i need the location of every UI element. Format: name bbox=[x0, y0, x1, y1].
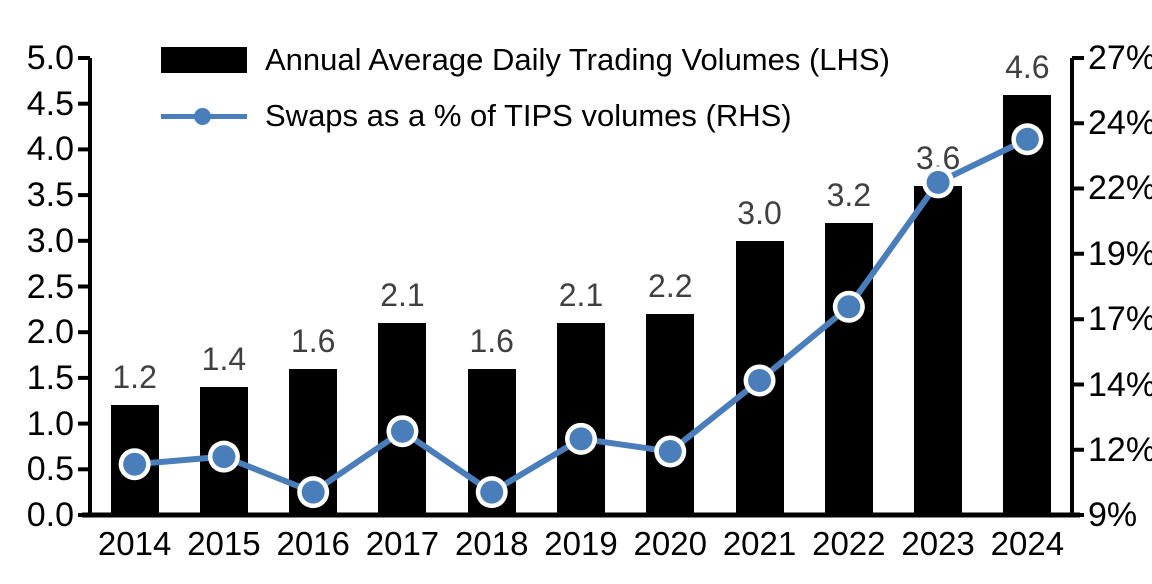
right-axis-tick-label: 19% bbox=[1088, 237, 1152, 271]
left-axis-tick-label: 1.0 bbox=[0, 407, 74, 441]
bar bbox=[646, 314, 694, 515]
left-axis-tick-label: 3.0 bbox=[0, 224, 74, 258]
left-axis-tick-label: 0.0 bbox=[0, 498, 74, 532]
legend-label-bars: Annual Average Daily Trading Volumes (LH… bbox=[265, 44, 890, 75]
right-axis-tick-label: 24% bbox=[1088, 106, 1152, 140]
legend-marker-dot-icon bbox=[194, 108, 211, 125]
bar bbox=[736, 241, 784, 515]
bar-data-label: 1.6 bbox=[469, 325, 513, 357]
left-axis-tick-label: 2.5 bbox=[0, 270, 74, 304]
bar bbox=[200, 387, 248, 515]
right-axis-tick-label: 14% bbox=[1088, 368, 1152, 402]
bar-data-label: 1.6 bbox=[291, 325, 335, 357]
right-axis-tick-label: 9% bbox=[1088, 498, 1152, 532]
bar-data-label: 4.6 bbox=[1005, 51, 1049, 83]
bar-data-label: 1.4 bbox=[202, 343, 246, 375]
right-axis-tick-label: 22% bbox=[1088, 171, 1152, 205]
left-axis-tick-label: 2.0 bbox=[0, 315, 74, 349]
legend-item-line: Swaps as a % of TIPS volumes (RHS) bbox=[161, 100, 792, 131]
legend-label-line: Swaps as a % of TIPS volumes (RHS) bbox=[265, 100, 792, 131]
legend-line-marker-swatch-icon bbox=[161, 103, 247, 129]
x-axis-tick-label: 2024 bbox=[991, 527, 1064, 560]
x-axis-tick-label: 2020 bbox=[634, 527, 707, 560]
bar-data-label: 2.1 bbox=[380, 279, 424, 311]
right-axis-tick-label: 27% bbox=[1088, 41, 1152, 75]
left-axis-tick-label: 4.0 bbox=[0, 132, 74, 166]
x-axis-tick-label: 2022 bbox=[812, 527, 885, 560]
right-axis-tick-label: 12% bbox=[1088, 433, 1152, 467]
bar-data-label: 3.0 bbox=[737, 197, 781, 229]
bar bbox=[825, 223, 873, 515]
x-axis-tick-label: 2019 bbox=[544, 527, 617, 560]
left-axis-tick-label: 5.0 bbox=[0, 41, 74, 75]
bar bbox=[1003, 95, 1051, 515]
bar bbox=[111, 405, 159, 515]
x-axis-tick-label: 2015 bbox=[187, 527, 260, 560]
legend-bar-swatch-icon bbox=[161, 47, 247, 73]
x-axis-tick-label: 2014 bbox=[98, 527, 171, 560]
x-axis-tick-label: 2023 bbox=[901, 527, 974, 560]
left-axis-tick-label: 4.5 bbox=[0, 87, 74, 121]
bar bbox=[914, 186, 962, 515]
left-axis-tick-label: 1.5 bbox=[0, 361, 74, 395]
bar bbox=[557, 323, 605, 515]
bar-data-label: 3.6 bbox=[916, 142, 960, 174]
x-axis-tick-label: 2017 bbox=[366, 527, 439, 560]
bar bbox=[378, 323, 426, 515]
right-axis-tick-label: 17% bbox=[1088, 302, 1152, 336]
bar-data-label: 2.1 bbox=[559, 279, 603, 311]
legend-item-bars: Annual Average Daily Trading Volumes (LH… bbox=[161, 44, 890, 75]
x-axis-tick-label: 2021 bbox=[723, 527, 796, 560]
bar-data-label: 3.2 bbox=[827, 179, 871, 211]
bar bbox=[289, 369, 337, 515]
x-axis-tick-label: 2018 bbox=[455, 527, 528, 560]
bar-data-label: 1.2 bbox=[112, 361, 156, 393]
x-axis-tick-label: 2016 bbox=[276, 527, 349, 560]
left-axis-tick-label: 3.5 bbox=[0, 178, 74, 212]
left-axis-tick-label: 0.5 bbox=[0, 452, 74, 486]
chart-container: 0.00.51.01.52.02.53.03.54.04.55.0 9%12%1… bbox=[0, 0, 1152, 584]
bar bbox=[468, 369, 516, 515]
bar-data-label: 2.2 bbox=[648, 270, 692, 302]
